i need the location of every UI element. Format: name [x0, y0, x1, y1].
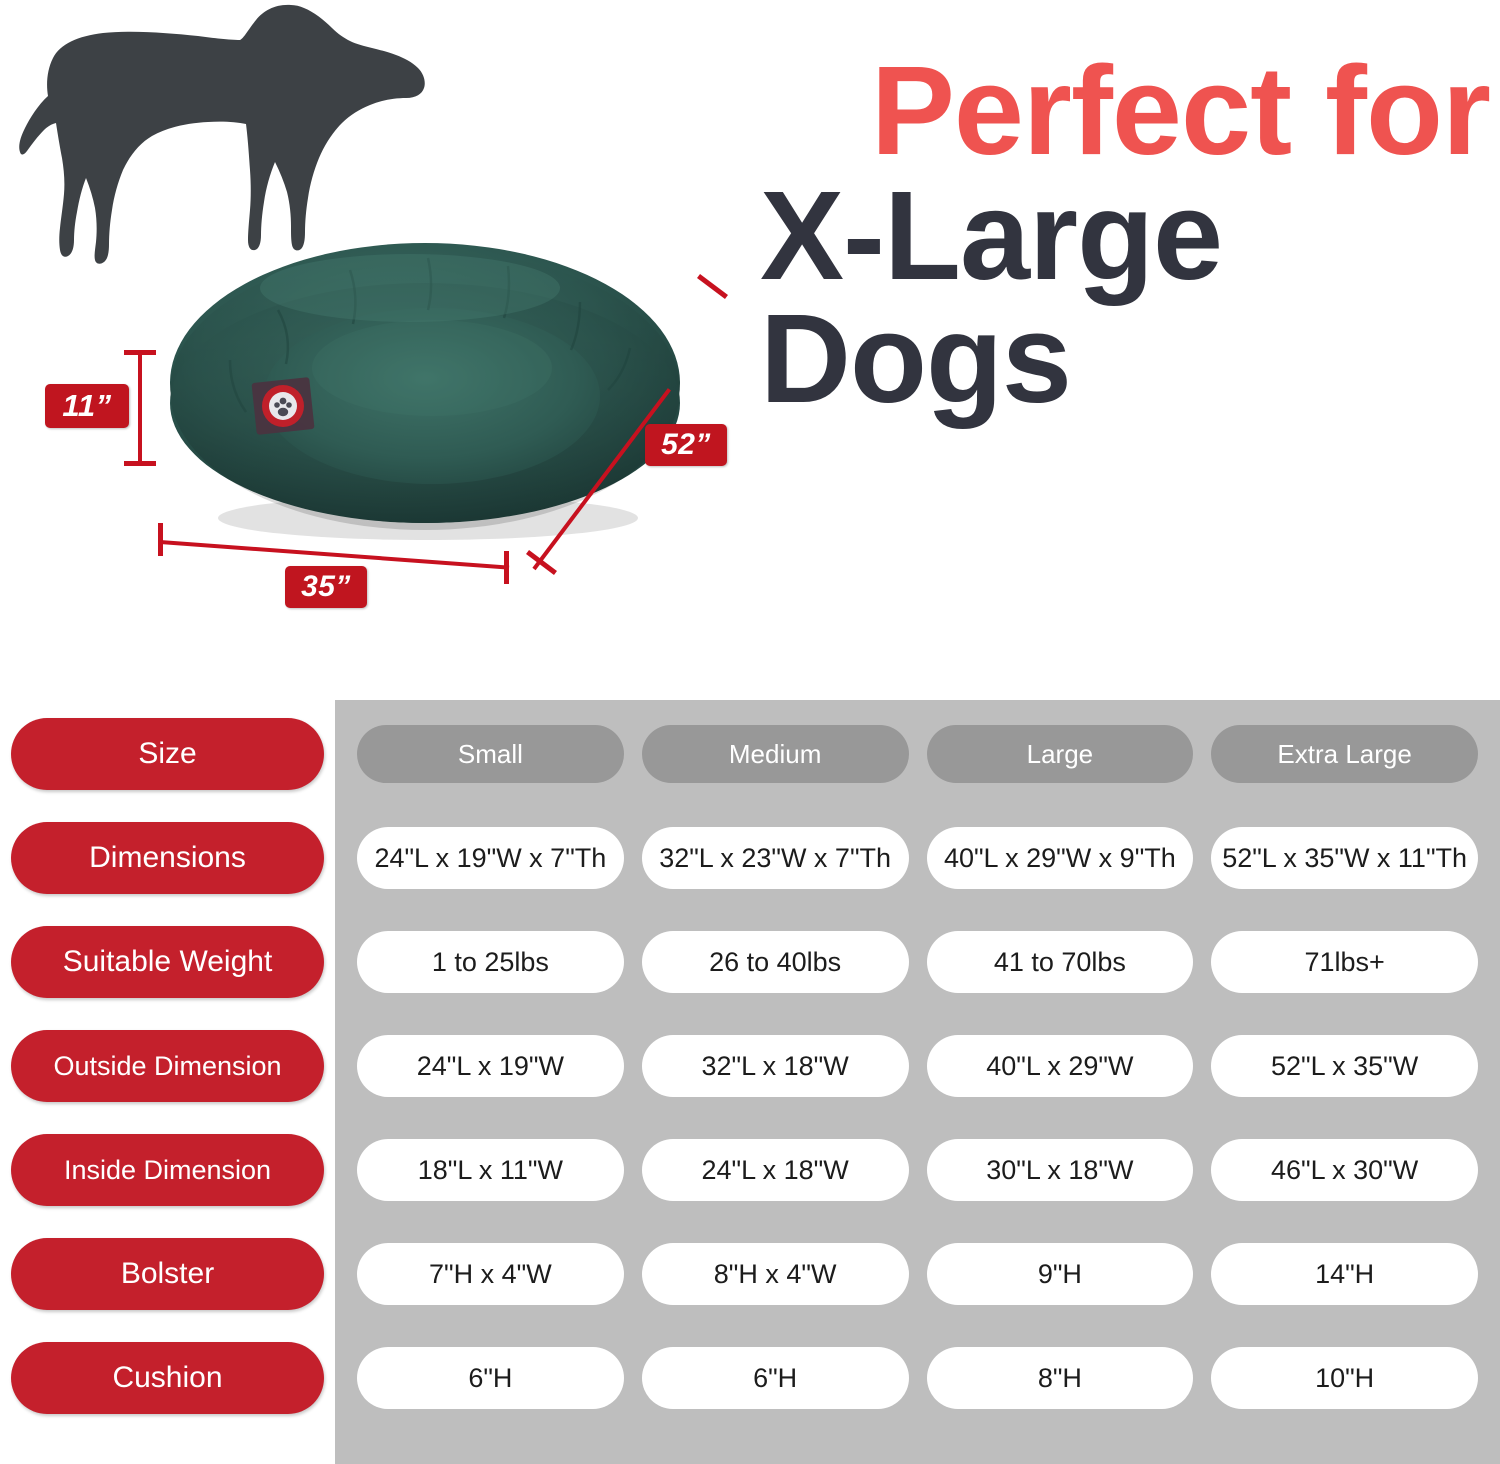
row-label-cell-bolster: Bolster: [0, 1238, 335, 1310]
length-dimension-cap-top: [697, 274, 728, 299]
table-row: Outside Dimension 24"L x 19"W 32"L x 18"…: [0, 1014, 1500, 1118]
cell-dimensions-medium: 32"L x 23"W x 7"Th: [642, 827, 909, 889]
row-label-suitable-weight: Suitable Weight: [11, 926, 324, 998]
cell-suitable-weight-large: 41 to 70lbs: [927, 931, 1194, 993]
cell-suitable-weight-small: 1 to 25lbs: [357, 931, 624, 993]
cell-cushion-small: 6"H: [357, 1347, 624, 1409]
headline-line-3: Dogs: [760, 300, 1490, 417]
column-header-medium: Medium: [642, 725, 909, 783]
cell-cushion-extra-large: 10"H: [1211, 1347, 1478, 1409]
column-header-large: Large: [927, 725, 1194, 783]
table-row: Suitable Weight 1 to 25lbs 26 to 40lbs 4…: [0, 910, 1500, 1014]
table-row: Dimensions 24"L x 19"W x 7"Th 32"L x 23"…: [0, 806, 1500, 910]
row-label-dimensions: Dimensions: [11, 822, 324, 894]
cell-bolster-extra-large: 14"H: [1211, 1243, 1478, 1305]
row-label-cell-dimensions: Dimensions: [0, 822, 335, 894]
width-dimension-cap-left: [158, 523, 163, 556]
header-cells: Small Medium Large Extra Large: [335, 725, 1500, 783]
dog-bed-photo: [160, 218, 690, 548]
row-cells-outside-dimension: 24"L x 19"W 32"L x 18"W 40"L x 29"W 52"L…: [335, 1035, 1500, 1097]
row-label-cell-inside-dimension: Inside Dimension: [0, 1134, 335, 1206]
cell-outside-dimension-large: 40"L x 29"W: [927, 1035, 1194, 1097]
height-dimension-cap-top: [124, 350, 156, 355]
column-header-small: Small: [357, 725, 624, 783]
cell-inside-dimension-small: 18"L x 11"W: [357, 1139, 624, 1201]
row-cells-cushion: 6"H 6"H 8"H 10"H: [335, 1347, 1500, 1409]
height-dimension-badge: 11”: [45, 384, 129, 428]
cell-suitable-weight-extra-large: 71lbs+: [1211, 931, 1478, 993]
height-dimension-line: [138, 352, 142, 464]
row-label-cell-suitable-weight: Suitable Weight: [0, 926, 335, 998]
cell-cushion-large: 8"H: [927, 1347, 1194, 1409]
table-rows-container: Size Small Medium Large Extra Large Dime…: [0, 690, 1500, 1430]
cell-inside-dimension-large: 30"L x 18"W: [927, 1139, 1194, 1201]
headline: Perfect for X-Large Dogs: [760, 52, 1490, 418]
row-label-cushion: Cushion: [11, 1342, 324, 1414]
hero-section: 11” 35” 52” Perfect for X-Large Dogs: [0, 0, 1500, 690]
row-cells-bolster: 7"H x 4"W 8"H x 4"W 9"H 14"H: [335, 1243, 1500, 1305]
brand-tag: [251, 377, 314, 435]
cell-dimensions-large: 40"L x 29"W x 9"Th: [927, 827, 1194, 889]
cell-suitable-weight-medium: 26 to 40lbs: [642, 931, 909, 993]
table-row: Bolster 7"H x 4"W 8"H x 4"W 9"H 14"H: [0, 1222, 1500, 1326]
column-header-extra-large: Extra Large: [1211, 725, 1478, 783]
row-label-size: Size: [11, 718, 324, 790]
table-row: Inside Dimension 18"L x 11"W 24"L x 18"W…: [0, 1118, 1500, 1222]
cell-outside-dimension-small: 24"L x 19"W: [357, 1035, 624, 1097]
row-label-bolster: Bolster: [11, 1238, 324, 1310]
row-cells-inside-dimension: 18"L x 11"W 24"L x 18"W 30"L x 18"W 46"L…: [335, 1139, 1500, 1201]
row-label-cell-outside-dimension: Outside Dimension: [0, 1030, 335, 1102]
cell-inside-dimension-extra-large: 46"L x 30"W: [1211, 1139, 1478, 1201]
specification-table: Size Small Medium Large Extra Large Dime…: [0, 690, 1500, 1464]
row-label-cell-cushion: Cushion: [0, 1342, 335, 1414]
table-header-row: Size Small Medium Large Extra Large: [0, 702, 1500, 806]
row-cells-dimensions: 24"L x 19"W x 7"Th 32"L x 23"W x 7"Th 40…: [335, 827, 1500, 889]
row-label-cell-size: Size: [0, 718, 335, 790]
row-cells-suitable-weight: 1 to 25lbs 26 to 40lbs 41 to 70lbs 71lbs…: [335, 931, 1500, 993]
cell-inside-dimension-medium: 24"L x 18"W: [642, 1139, 909, 1201]
table-row: Cushion 6"H 6"H 8"H 10"H: [0, 1326, 1500, 1430]
cell-outside-dimension-extra-large: 52"L x 35"W: [1211, 1035, 1478, 1097]
cell-dimensions-extra-large: 52"L x 35"W x 11"Th: [1211, 827, 1478, 889]
headline-line-2: X-Large: [760, 177, 1490, 294]
cell-bolster-medium: 8"H x 4"W: [642, 1243, 909, 1305]
width-dimension-badge: 35”: [285, 566, 367, 608]
length-dimension-badge: 52”: [645, 424, 727, 466]
cell-bolster-large: 9"H: [927, 1243, 1194, 1305]
cell-dimensions-small: 24"L x 19"W x 7"Th: [357, 827, 624, 889]
row-label-inside-dimension: Inside Dimension: [11, 1134, 324, 1206]
height-dimension-cap-bottom: [124, 461, 156, 466]
width-dimension-cap-right: [504, 551, 509, 584]
headline-line-1: Perfect for: [760, 52, 1490, 169]
cell-outside-dimension-medium: 32"L x 18"W: [642, 1035, 909, 1097]
cell-bolster-small: 7"H x 4"W: [357, 1243, 624, 1305]
cell-cushion-medium: 6"H: [642, 1347, 909, 1409]
row-label-outside-dimension: Outside Dimension: [11, 1030, 324, 1102]
